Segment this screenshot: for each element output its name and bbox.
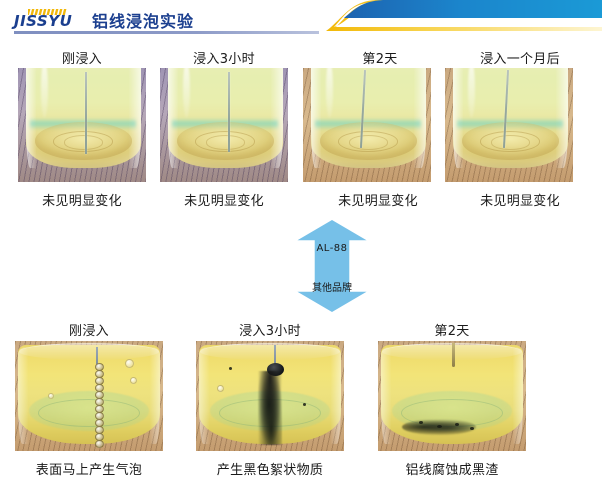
debris-speck	[229, 367, 232, 370]
header-underline	[14, 31, 319, 34]
gas-bubble	[217, 385, 224, 392]
gas-bubble	[48, 393, 54, 399]
top-label-3: 浸入一个月后	[456, 48, 584, 67]
wire-remnant	[452, 343, 455, 367]
bottom-label-0: 刚浸入	[15, 320, 163, 339]
top-photo-3	[445, 68, 573, 182]
top-label-2: 第2天	[316, 48, 444, 67]
top-caption-0: 未见明显变化	[18, 190, 146, 209]
debris-speck	[470, 427, 474, 430]
top-label-0: 刚浸入	[18, 48, 146, 67]
debris-speck	[303, 403, 306, 406]
bottom-label-2: 第2天	[378, 320, 526, 339]
top-label-1: 浸入3小时	[160, 48, 288, 67]
aluminium-wire	[228, 72, 230, 152]
bottom-photo-1	[196, 341, 344, 451]
logo-wordmark: JISSYU	[14, 13, 72, 29]
bottom-photo-0	[15, 341, 163, 451]
gas-bubbles	[95, 363, 104, 445]
bottom-label-1: 浸入3小时	[196, 320, 344, 339]
bottom-caption-1: 产生黑色絮状物质	[196, 459, 344, 478]
page-header: JISSYU 铝线浸泡实验	[0, 0, 602, 42]
debris-speck	[455, 423, 459, 426]
bottom-photo-2	[378, 341, 526, 451]
black-flocculent-material	[258, 371, 282, 445]
top-caption-3: 未见明显变化	[456, 190, 584, 209]
jissyu-logo: JISSYU	[14, 9, 86, 31]
bottom-caption-0: 表面马上产生气泡	[15, 459, 163, 478]
arrow-bottom-label: 其他品牌	[284, 279, 380, 294]
comparison-arrow: AL-88 其他品牌	[284, 220, 380, 312]
arrow-top-label: AL-88	[284, 243, 380, 254]
aluminium-wire	[85, 72, 87, 154]
gas-bubble	[125, 359, 134, 368]
page-title: 铝线浸泡实验	[92, 8, 194, 32]
top-caption-1: 未见明显变化	[160, 190, 288, 209]
top-photo-0	[18, 68, 146, 182]
double-arrow-icon	[284, 220, 380, 312]
top-photo-2	[303, 68, 431, 182]
bottom-caption-2: 铝线腐蚀成黑渣	[378, 459, 526, 478]
top-photo-1	[160, 68, 288, 182]
top-caption-2: 未见明显变化	[314, 190, 442, 209]
